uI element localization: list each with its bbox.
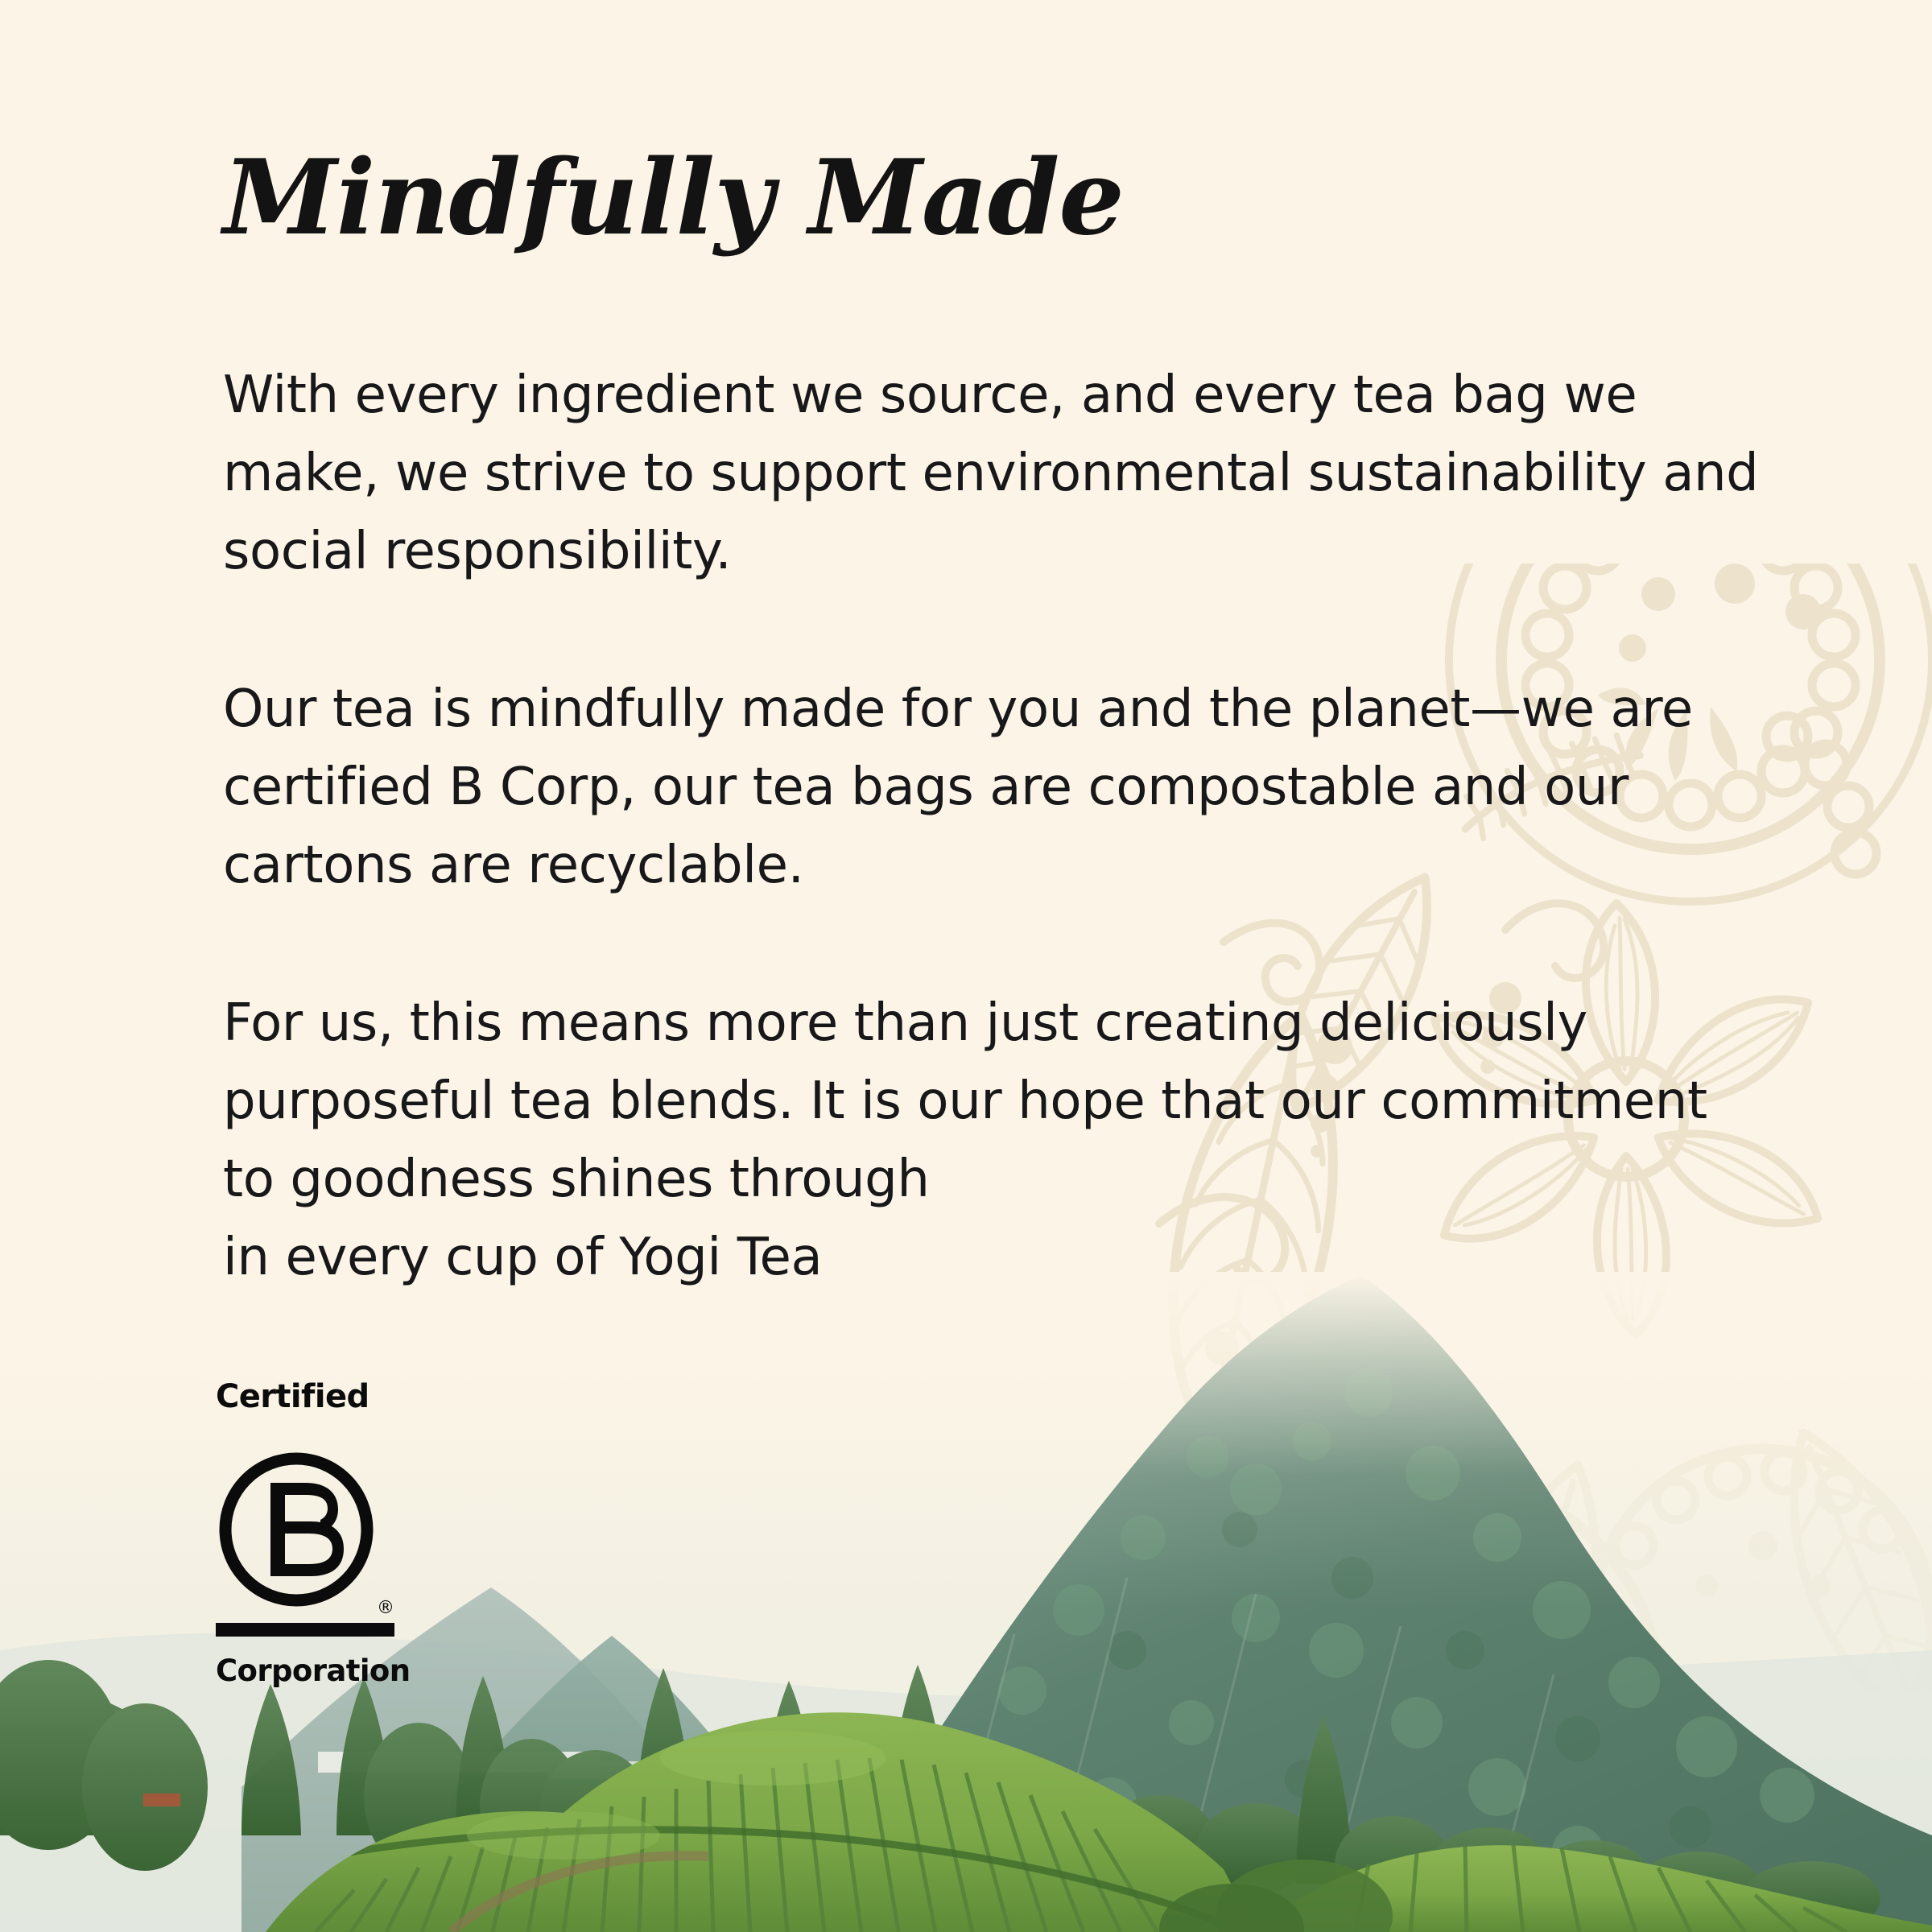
- paragraph-1: With every ingredient we source, and eve…: [223, 357, 1801, 591]
- bcorp-b-mark: [225, 1459, 367, 1600]
- b-corp-certification-logo: Certified ® Corporation: [216, 1378, 417, 1694]
- paragraph-2: Our tea is mindfully made for you and th…: [223, 671, 1801, 905]
- bcorp-corporation-label: Corporation: [216, 1653, 410, 1688]
- paragraph-3: For us, this means more than just creati…: [223, 985, 1720, 1297]
- page-title: Mindfully Made: [223, 147, 1124, 250]
- bcorp-divider-bar: [216, 1623, 394, 1637]
- mindfully-made-card: Mindfully Made With every ingredient we …: [0, 0, 1932, 1932]
- registered-trademark-icon: ®: [377, 1598, 394, 1618]
- bcorp-certified-label: Certified: [216, 1378, 369, 1415]
